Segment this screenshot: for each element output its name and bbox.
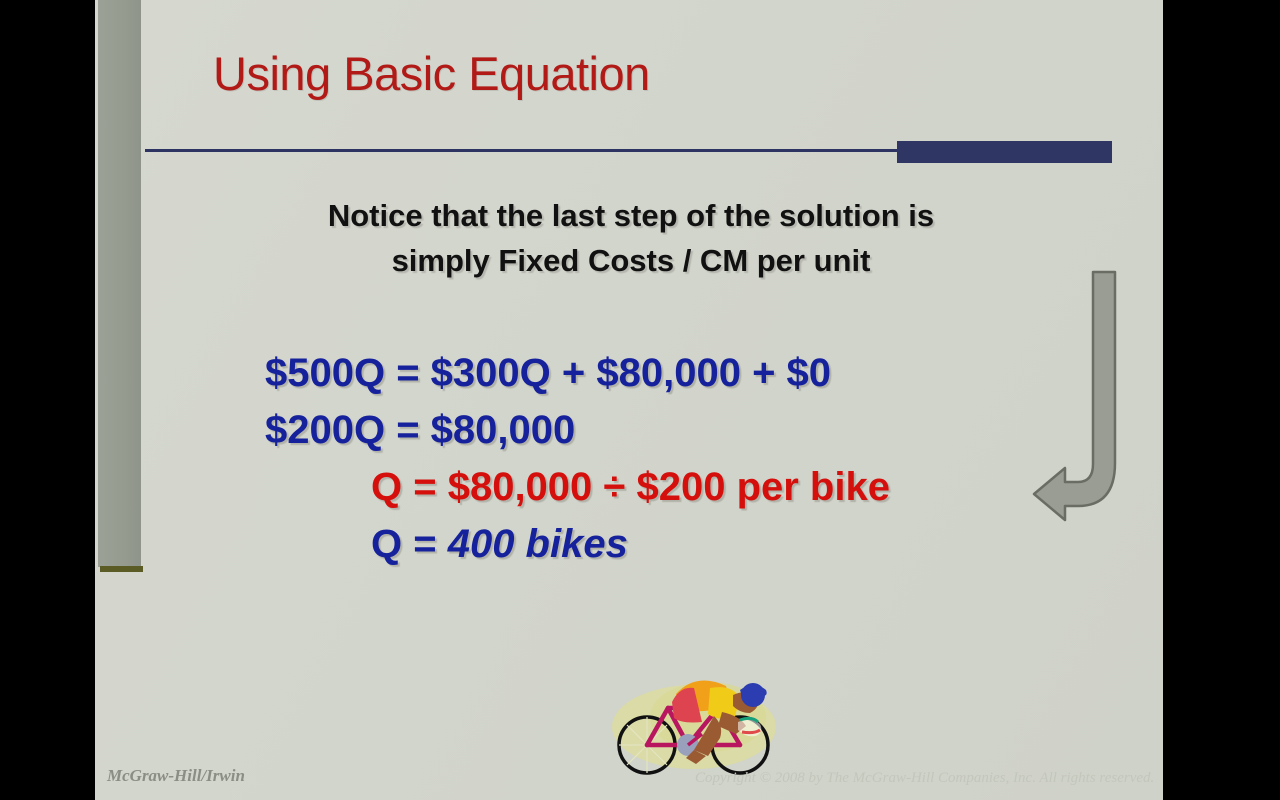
equation-line-4-answer: 400 bikes [448,522,628,566]
footer-copyright: Copyright © 2008 by The McGraw-Hill Comp… [695,770,1154,787]
equation-line-1: $500Q = $300Q + $80,000 + $0 [95,345,1163,402]
equation-line-4-prefix: Q = [371,522,448,566]
equation-line-2: $200Q = $80,000 [95,402,1163,459]
lead-line-1: Notice that the last step of the solutio… [191,193,1071,238]
screen-root: Using Basic Equation Notice that the las… [0,0,1280,800]
curved-arrow-icon [1030,268,1125,523]
page-title: Using Basic Equation [213,46,650,101]
equation-line-3: Q = $80,000 ÷ $200 per bike [95,459,1163,516]
lead-line-2: simply Fixed Costs / CM per unit [191,238,1071,283]
footer-publisher: McGraw-Hill/Irwin [107,766,245,786]
equation-line-4: Q = 400 bikes [95,516,1163,573]
lead-paragraph: Notice that the last step of the solutio… [191,193,1071,283]
slide-canvas: Using Basic Equation Notice that the las… [95,0,1163,800]
equation-block: $500Q = $300Q + $80,000 + $0 $200Q = $80… [95,345,1163,573]
title-accent-block [897,141,1112,163]
cyclist-clipart-icon [590,672,800,782]
